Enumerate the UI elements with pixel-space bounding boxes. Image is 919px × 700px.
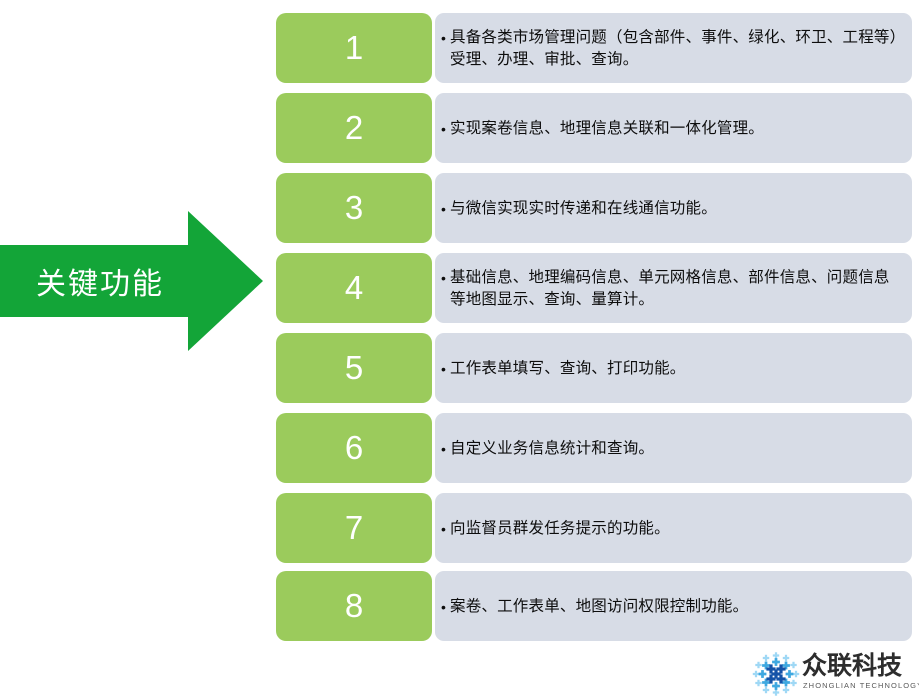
item-description: 向监督员群发任务提示的功能。 — [450, 517, 902, 539]
item-description: 具备各类市场管理问题（包含部件、事件、绿化、环卫、工程等）受理、办理、审批、查询… — [450, 26, 902, 70]
item-number: 4 — [345, 271, 363, 304]
dotted-sphere-logo-icon — [752, 652, 800, 696]
list-item[interactable]: 3 • 与微信实现实时传递和在线通信功能。 — [276, 173, 912, 243]
item-text-box: • 实现案卷信息、地理信息关联和一体化管理。 — [435, 93, 912, 163]
list-item[interactable]: 1 • 具备各类市场管理问题（包含部件、事件、绿化、环卫、工程等）受理、办理、审… — [276, 13, 912, 83]
item-number: 7 — [345, 511, 363, 544]
item-text-box: • 案卷、工作表单、地图访问权限控制功能。 — [435, 571, 912, 641]
item-number: 6 — [345, 431, 363, 464]
item-number: 8 — [345, 589, 363, 622]
item-description: 基础信息、地理编码信息、单元网格信息、部件信息、问题信息等地图显示、查询、量算计… — [450, 266, 902, 310]
item-number-badge: 8 — [276, 571, 432, 641]
item-number-badge: 3 — [276, 173, 432, 243]
item-description: 工作表单填写、查询、打印功能。 — [450, 357, 902, 379]
item-text-box: • 自定义业务信息统计和查询。 — [435, 413, 912, 483]
item-description: 自定义业务信息统计和查询。 — [450, 437, 902, 459]
bullet-icon: • — [441, 198, 450, 220]
item-number-badge: 7 — [276, 493, 432, 563]
item-text-box: • 向监督员群发任务提示的功能。 — [435, 493, 912, 563]
bullet-icon: • — [441, 358, 450, 380]
bullet-icon: • — [441, 27, 450, 49]
item-text-box: • 基础信息、地理编码信息、单元网格信息、部件信息、问题信息等地图显示、查询、量… — [435, 253, 912, 323]
list-item[interactable]: 2 • 实现案卷信息、地理信息关联和一体化管理。 — [276, 93, 912, 163]
item-text-box: • 工作表单填写、查询、打印功能。 — [435, 333, 912, 403]
arrow-shape-icon — [0, 211, 263, 351]
item-description: 与微信实现实时传递和在线通信功能。 — [450, 197, 902, 219]
list-item[interactable]: 5 • 工作表单填写、查询、打印功能。 — [276, 333, 912, 403]
item-number: 3 — [345, 191, 363, 224]
item-number-badge: 2 — [276, 93, 432, 163]
key-functions-arrow-callout: 关键功能 — [0, 211, 263, 351]
feature-list: 1 • 具备各类市场管理问题（包含部件、事件、绿化、环卫、工程等）受理、办理、审… — [276, 13, 912, 641]
list-item[interactable]: 8 • 案卷、工作表单、地图访问权限控制功能。 — [276, 571, 912, 641]
item-number-badge: 6 — [276, 413, 432, 483]
item-description: 实现案卷信息、地理信息关联和一体化管理。 — [450, 117, 902, 139]
bullet-icon: • — [441, 267, 450, 289]
company-logo: 众联科技 ZHONGLIAN TECHNOLOGY — [752, 650, 915, 698]
logo-name-en: ZHONGLIAN TECHNOLOGY — [803, 681, 919, 690]
logo-wordmark: 众联科技 ZHONGLIAN TECHNOLOGY — [802, 652, 915, 696]
item-number: 5 — [345, 351, 363, 384]
list-item[interactable]: 7 • 向监督员群发任务提示的功能。 — [276, 493, 912, 563]
item-number-badge: 1 — [276, 13, 432, 83]
bullet-icon: • — [441, 438, 450, 460]
item-description: 案卷、工作表单、地图访问权限控制功能。 — [450, 595, 902, 617]
item-text-box: • 具备各类市场管理问题（包含部件、事件、绿化、环卫、工程等）受理、办理、审批、… — [435, 13, 912, 83]
bullet-icon: • — [441, 596, 450, 618]
item-number: 1 — [345, 31, 363, 64]
bullet-icon: • — [441, 118, 450, 140]
item-number: 2 — [345, 111, 363, 144]
slide-canvas: 关键功能 1 • 具备各类市场管理问题（包含部件、事件、绿化、环卫、工程等）受理… — [0, 0, 919, 700]
item-number-badge: 4 — [276, 253, 432, 323]
logo-name-cn: 众联科技 — [802, 652, 902, 680]
list-item[interactable]: 6 • 自定义业务信息统计和查询。 — [276, 413, 912, 483]
list-item[interactable]: 4 • 基础信息、地理编码信息、单元网格信息、部件信息、问题信息等地图显示、查询… — [276, 253, 912, 323]
item-text-box: • 与微信实现实时传递和在线通信功能。 — [435, 173, 912, 243]
bullet-icon: • — [441, 518, 450, 540]
item-number-badge: 5 — [276, 333, 432, 403]
